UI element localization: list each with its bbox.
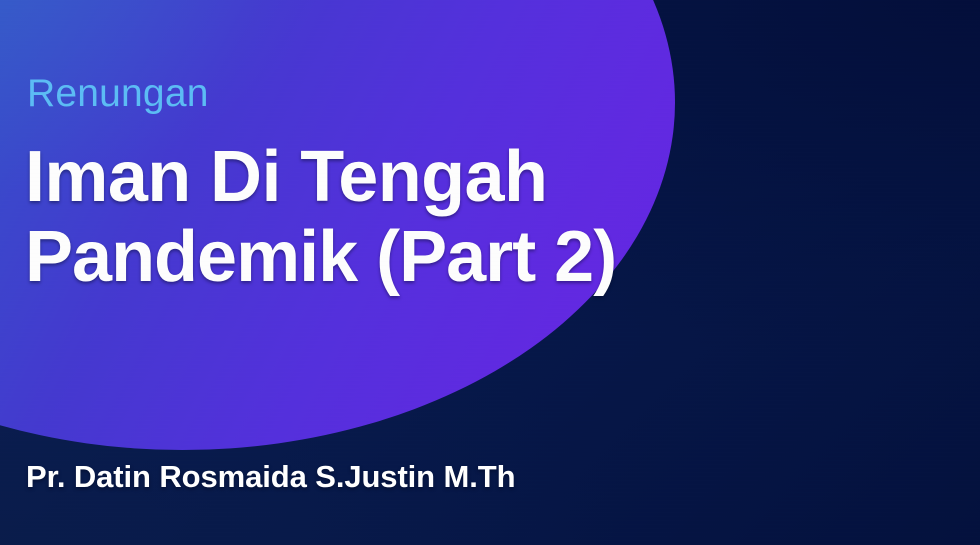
slide-title: Iman Di Tengah Pandemik (Part 2) (25, 137, 925, 297)
slide-content: Renungan Iman Di Tengah Pandemik (Part 2… (0, 0, 980, 545)
slide-category-label: Renungan (27, 74, 209, 113)
presentation-slide: Renungan Iman Di Tengah Pandemik (Part 2… (0, 0, 980, 545)
slide-title-line-2: Pandemik (Part 2) (25, 217, 925, 297)
slide-title-line-1: Iman Di Tengah (25, 137, 925, 217)
slide-speaker-name: Pr. Datin Rosmaida S.Justin M.Th (26, 459, 515, 495)
